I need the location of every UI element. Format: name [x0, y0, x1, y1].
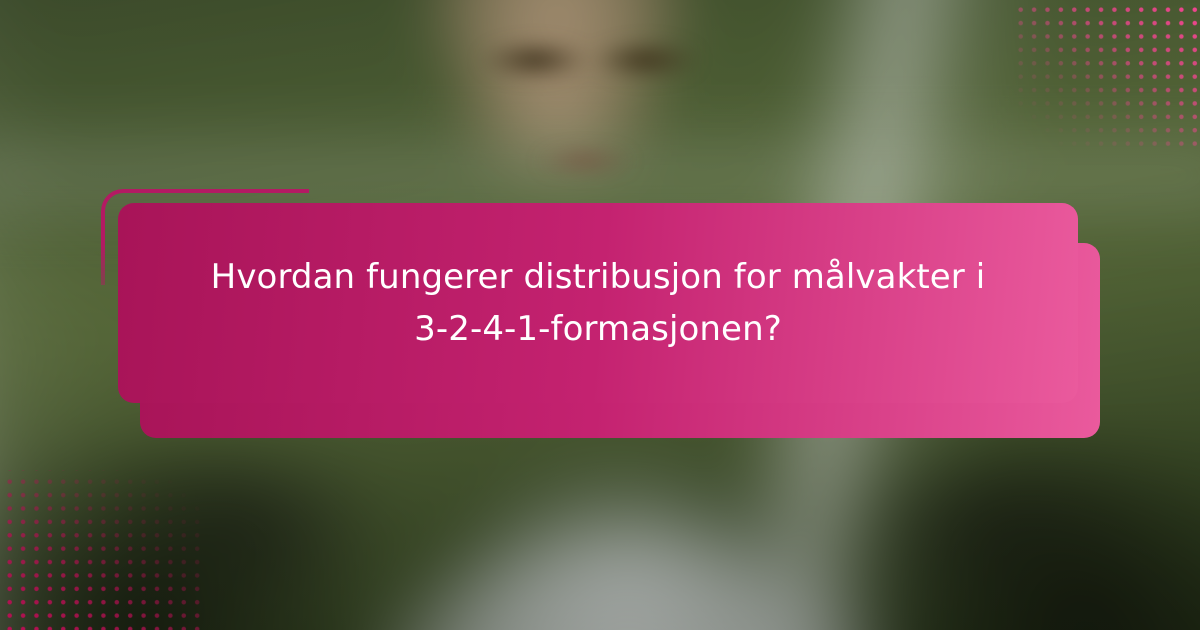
headline-card: Hvordan fungerer distribusjon for målvak…	[118, 203, 1078, 403]
social-card-canvas: Hvordan fungerer distribusjon for målvak…	[0, 0, 1200, 630]
headline-text: Hvordan fungerer distribusjon for målvak…	[198, 251, 998, 355]
